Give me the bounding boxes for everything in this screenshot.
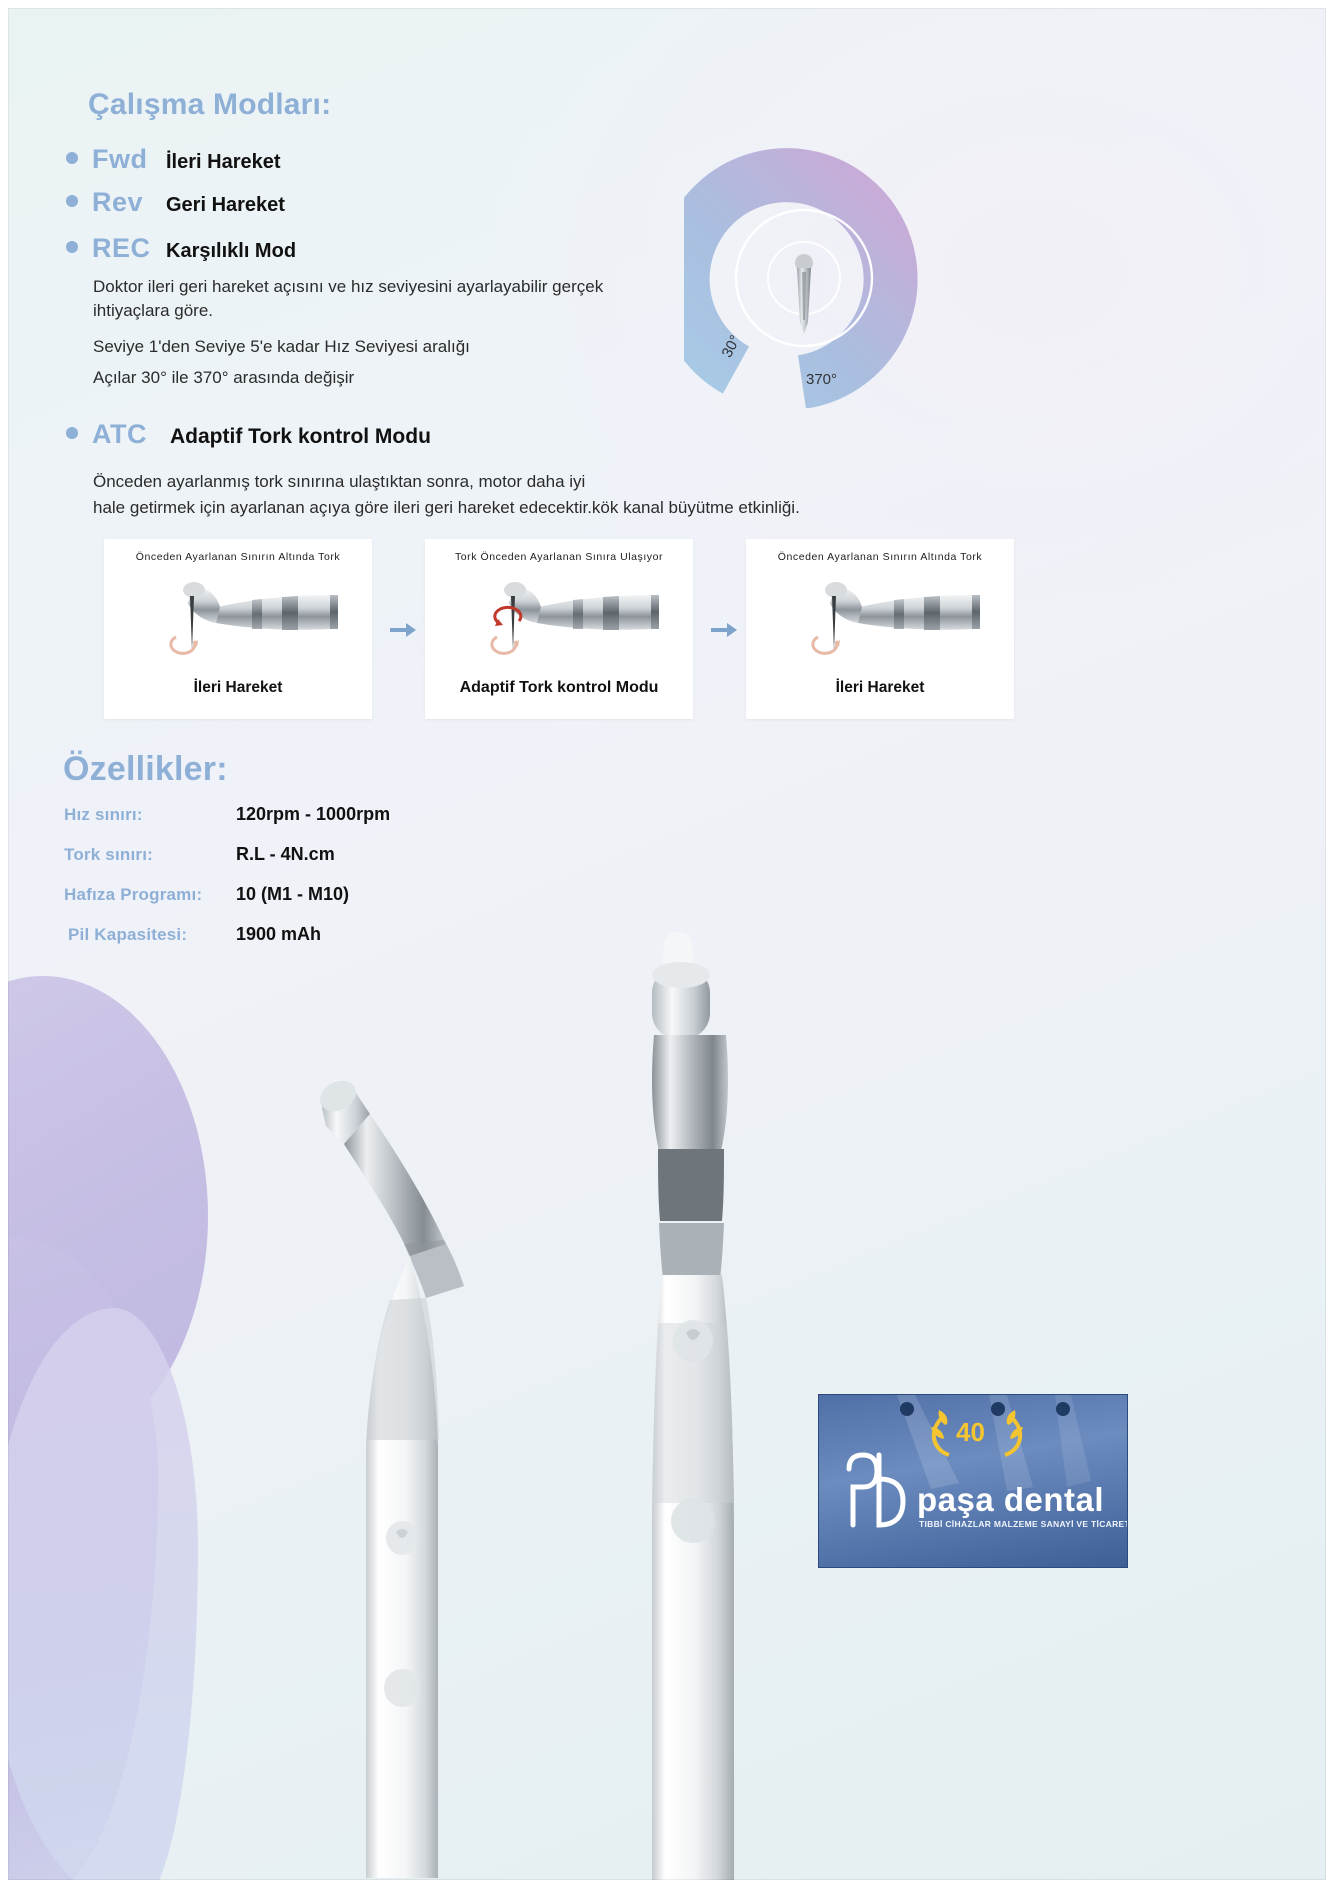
rec-description: Doktor ileri geri hareket açısını ve hız… xyxy=(93,275,623,323)
logo-brand-name: paşa dental xyxy=(917,1481,1104,1519)
brochure-page: Çalışma Modları: Fwd İleri Hareket Rev G… xyxy=(8,8,1326,1880)
mode-code-rec: REC xyxy=(92,233,166,264)
decorative-blob-accent xyxy=(8,1308,198,1880)
handpiece-illustration xyxy=(132,573,344,669)
atc-step-card-2: Tork Önceden Ayarlanan Sınıra Ulaşıyor A… xyxy=(425,539,693,719)
company-logo: 40 paşa dental TIBBİ CİHAZLAR MALZEME SA… xyxy=(818,1394,1128,1568)
anniversary-badge: 40 xyxy=(956,1417,985,1448)
card-header: Önceden Ayarlanan Sınırın Altında Tork xyxy=(104,551,372,563)
rec-angle-range: Açılar 30° ile 370° arasında değişir xyxy=(93,366,354,390)
product-photo-contra-angle xyxy=(308,1048,488,1878)
product-photo-endo-motor xyxy=(608,923,788,1880)
mode-label-rec: Karşılıklı Mod xyxy=(166,240,296,263)
spec-key: Pil Kapasitesi: xyxy=(68,925,187,945)
rec-speed-range: Seviye 1'den Seviye 5'e kadar Hız Seviye… xyxy=(93,335,470,359)
mode-row-fwd: Fwd İleri Hareket xyxy=(66,144,281,175)
spec-value: 120rpm - 1000rpm xyxy=(236,804,390,825)
mode-code-fwd: Fwd xyxy=(92,144,166,175)
atc-step-card-3: Önceden Ayarlanan Sınırın Altında Tork İ… xyxy=(746,539,1014,719)
atc-description-line1: Önceden ayarlanmış tork sınırına ulaştık… xyxy=(93,469,993,495)
card-header: Önceden Ayarlanan Sınırın Altında Tork xyxy=(746,551,1014,563)
dial-label-max-angle: 370° xyxy=(806,371,837,388)
reciprocation-angle-dial: 30° 370° xyxy=(684,108,924,408)
handpiece-illustration xyxy=(453,573,665,669)
arrow-right-icon xyxy=(390,623,416,637)
spec-value: 1900 mAh xyxy=(236,924,321,945)
atc-sequence-diagram: Önceden Ayarlanan Sınırın Altında Tork xyxy=(104,539,1034,721)
atc-step-card-1: Önceden Ayarlanan Sınırın Altında Tork xyxy=(104,539,372,719)
mode-label-rev: Geri Hareket xyxy=(166,194,285,217)
dial-graphic xyxy=(684,108,924,408)
spec-key: Tork sınırı: xyxy=(64,845,153,865)
mode-row-rev: Rev Geri Hareket xyxy=(66,187,285,218)
atc-description: Önceden ayarlanmış tork sınırına ulaştık… xyxy=(93,469,993,520)
bullet-icon xyxy=(66,152,78,164)
card-header: Tork Önceden Ayarlanan Sınıra Ulaşıyor xyxy=(425,551,693,563)
card-caption: İleri Hareket xyxy=(746,679,1014,697)
spec-value: 10 (M1 - M10) xyxy=(236,884,349,905)
bullet-icon xyxy=(66,427,78,439)
bullet-icon xyxy=(66,241,78,253)
bullet-icon xyxy=(66,195,78,207)
spec-key: Hafıza Programı: xyxy=(64,885,202,905)
spec-key: Hız sınırı: xyxy=(64,805,143,825)
features-title: Özellikler: xyxy=(63,750,228,789)
working-modes-title: Çalışma Modları: xyxy=(88,88,331,122)
card-caption: İleri Hareket xyxy=(104,679,372,697)
card-caption: Adaptif Tork kontrol Modu xyxy=(425,679,693,697)
logo-tagline: TIBBİ CİHAZLAR MALZEME SANAYİ VE TİCARET… xyxy=(919,1519,1128,1529)
mode-code-rev: Rev xyxy=(92,187,166,218)
mode-label-fwd: İleri Hareket xyxy=(166,151,281,174)
mode-row-rec: REC Karşılıklı Mod xyxy=(66,233,296,264)
mode-code-atc: ATC xyxy=(92,419,170,450)
handpiece-illustration xyxy=(774,573,986,669)
arrow-right-icon xyxy=(711,623,737,637)
spec-value: R.L - 4N.cm xyxy=(236,844,335,865)
mode-label-atc: Adaptif Tork kontrol Modu xyxy=(170,425,431,449)
mode-row-atc: ATC Adaptif Tork kontrol Modu xyxy=(66,419,431,450)
atc-description-line2: hale getirmek için ayarlanan açıya göre … xyxy=(93,495,993,521)
